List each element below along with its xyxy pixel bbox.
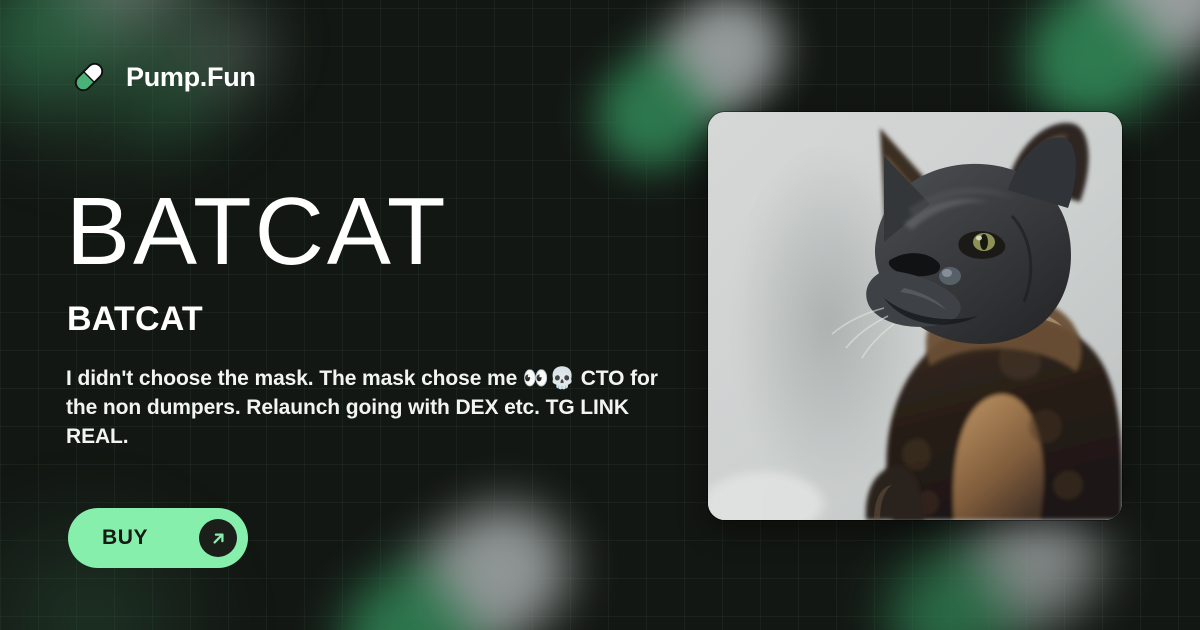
arrow-up-right-icon — [199, 519, 237, 557]
brand-name: Pump.Fun — [126, 64, 256, 91]
share-card: Pump.Fun BATCAT BATCAT I didn't choose t… — [0, 0, 1200, 630]
token-title: BATCAT — [66, 182, 448, 283]
buy-button[interactable]: BUY — [68, 508, 248, 568]
token-description: I didn't choose the mask. The mask chose… — [66, 364, 666, 451]
pill-capsule-icon — [68, 56, 110, 98]
token-ticker: BATCAT — [67, 301, 203, 338]
card-content: Pump.Fun BATCAT BATCAT I didn't choose t… — [0, 0, 1200, 630]
buy-button-label: BUY — [102, 526, 148, 550]
token-image — [708, 112, 1122, 520]
brand-logo-link[interactable]: Pump.Fun — [68, 56, 256, 98]
